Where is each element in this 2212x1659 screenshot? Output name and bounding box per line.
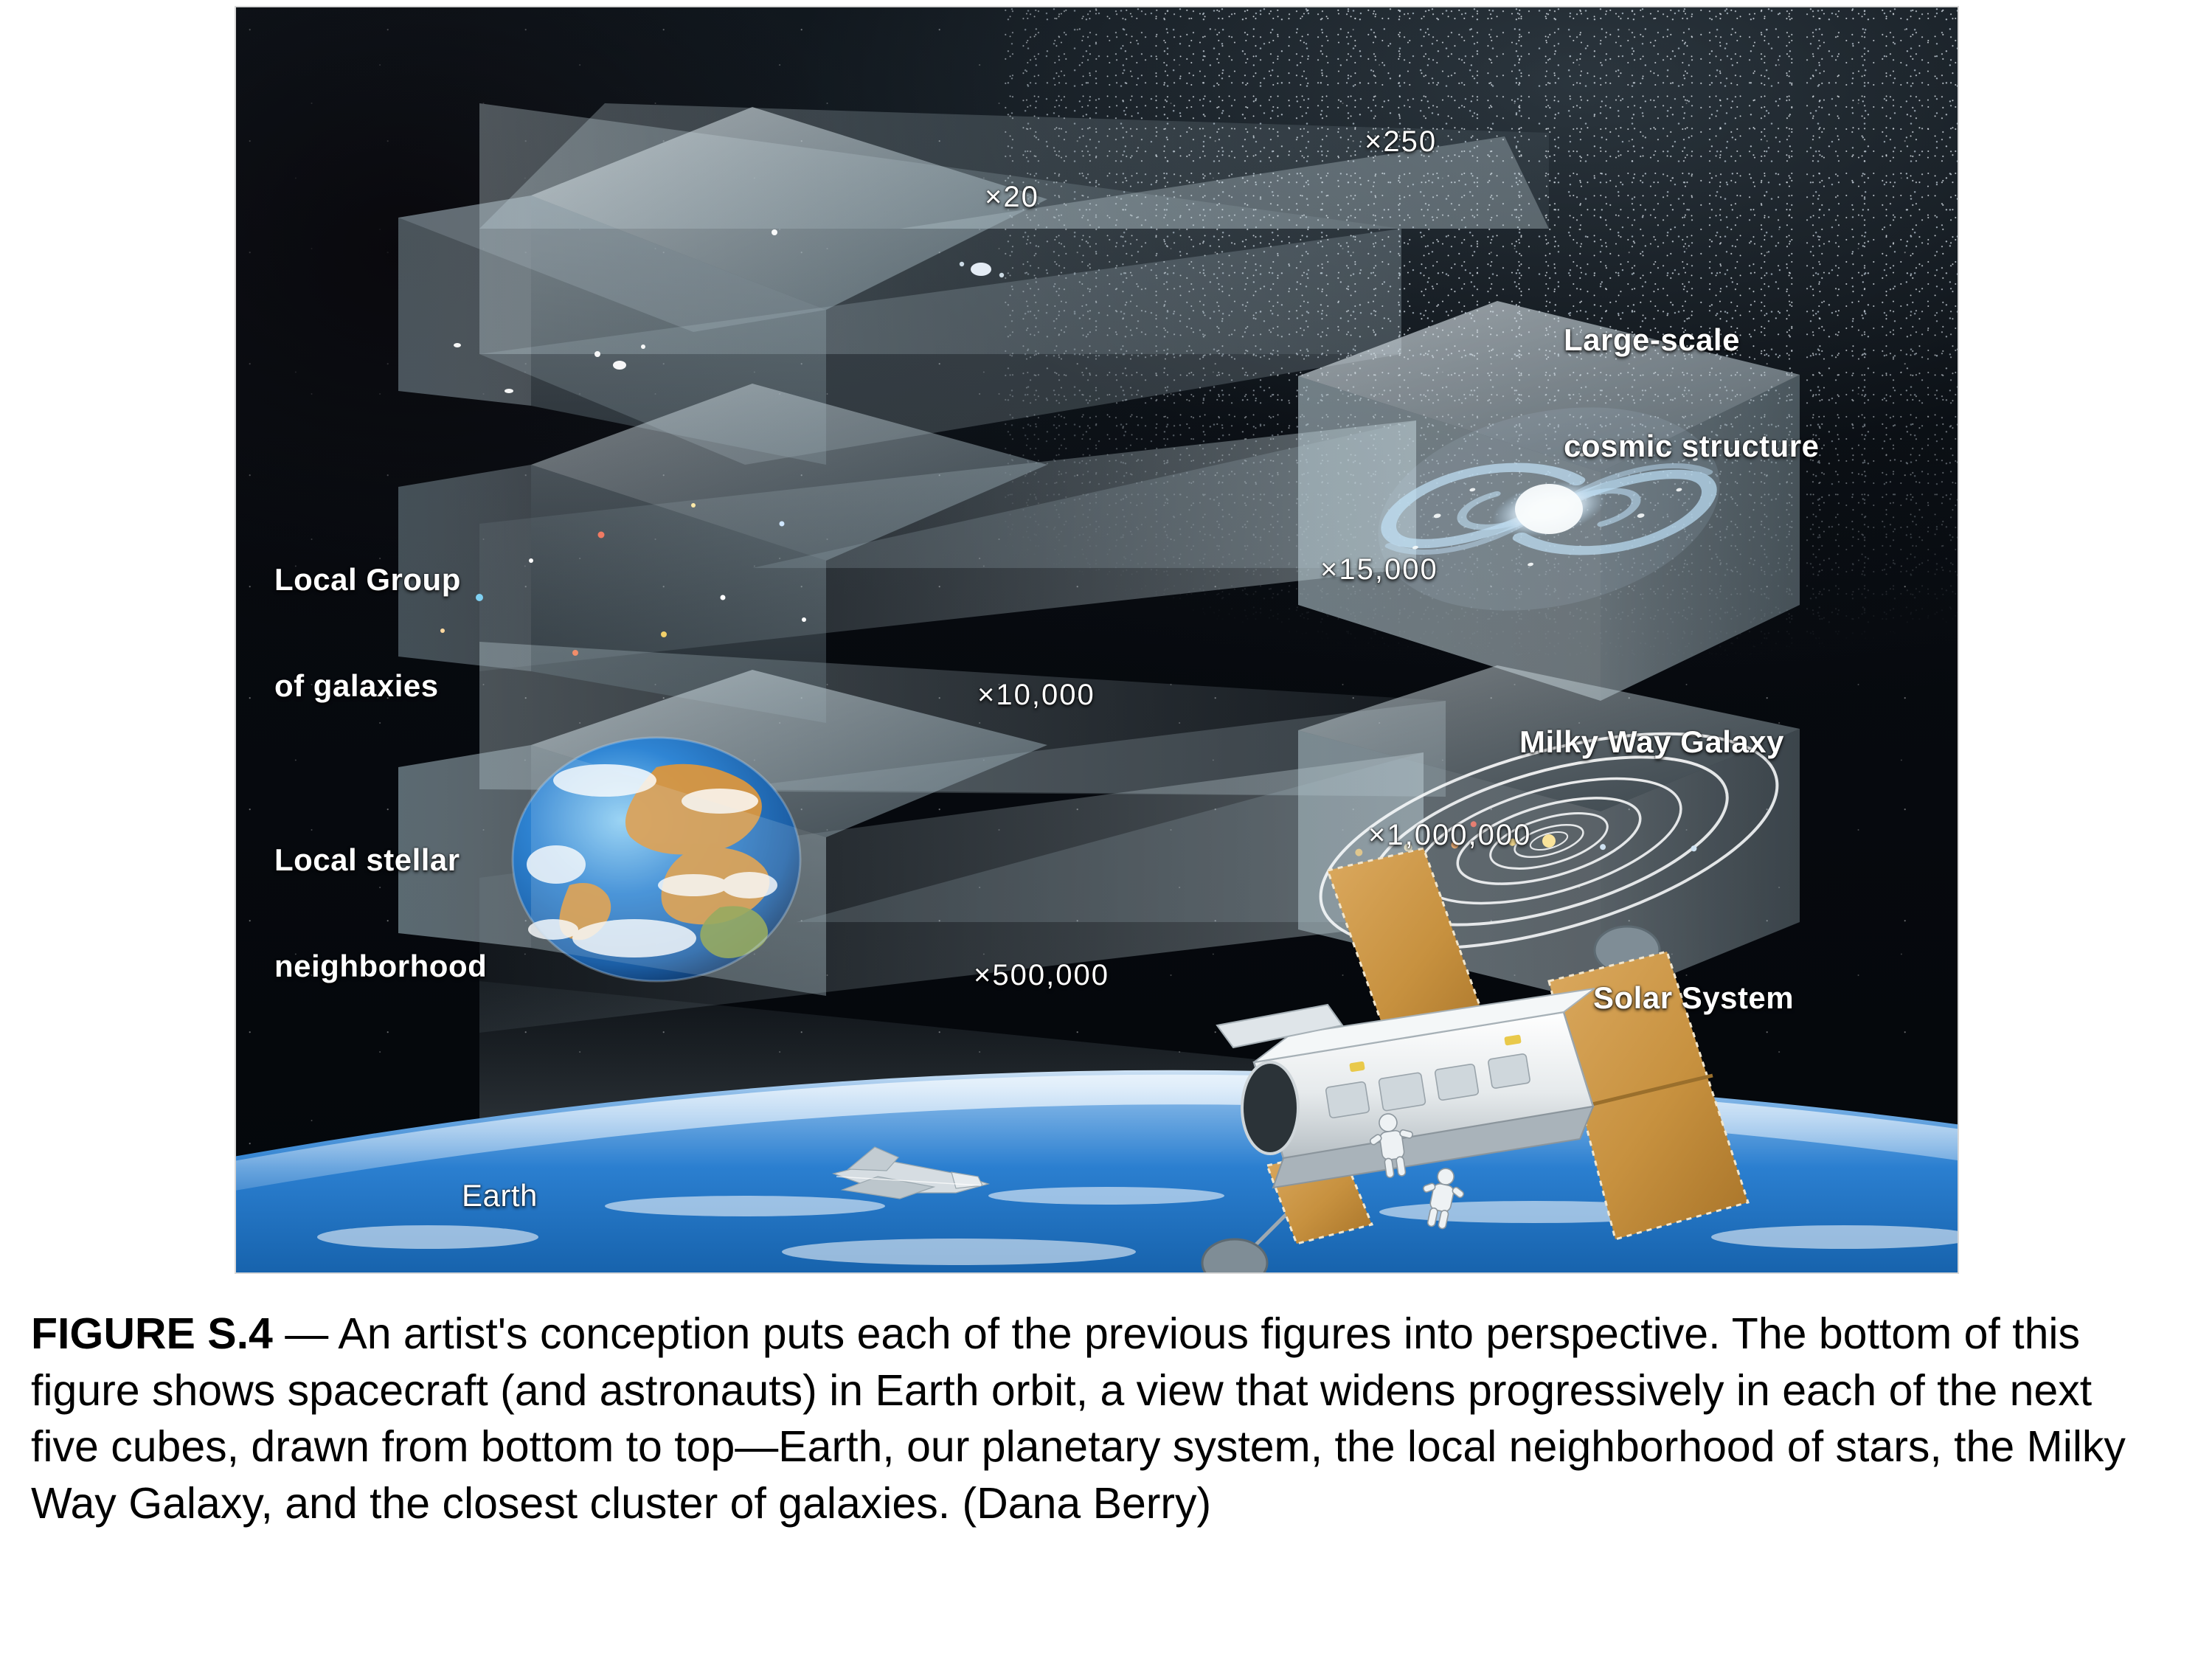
label-solar-system: Solar System xyxy=(1593,909,1794,1087)
label-line-2: of galaxies xyxy=(274,668,461,704)
label-large-scale-cosmic-structure: Large-scale cosmic structure xyxy=(1564,251,1819,536)
label-local-stellar-neighborhood: Local stellar neighborhood xyxy=(274,771,487,1056)
label-line-1: Earth xyxy=(462,1178,538,1213)
label-x250: ×250 xyxy=(1365,125,1437,159)
label-x20: ×20 xyxy=(985,181,1039,214)
label-x500000: ×500,000 xyxy=(974,959,1109,992)
caption-figure-number: FIGURE S.4 xyxy=(31,1309,273,1358)
caption-body: An artist's conception puts each of the … xyxy=(31,1309,2126,1528)
label-local-group-of-galaxies: Local Group of galaxies xyxy=(274,491,461,775)
label-earth: Earth xyxy=(462,1106,538,1272)
label-x1000000: ×1,000,000 xyxy=(1368,819,1531,852)
label-line-1: Local Group xyxy=(274,562,461,598)
label-line-1: Large-scale xyxy=(1564,322,1819,358)
label-x15000: ×15,000 xyxy=(1320,553,1438,586)
label-line-2: cosmic structure xyxy=(1564,429,1819,464)
label-line-1: Solar System xyxy=(1593,980,1794,1016)
label-x10000: ×10,000 xyxy=(977,679,1095,712)
artwork-panel: ×250 ×20 ×15,000 ×10,000 ×1,000,000 ×500… xyxy=(236,7,1958,1272)
label-line-1: Local stellar xyxy=(274,842,487,878)
space-shuttle xyxy=(804,1125,1025,1236)
label-line-1: Milky Way Galaxy xyxy=(1519,724,1784,760)
figure-container: ×250 ×20 ×15,000 ×10,000 ×1,000,000 ×500… xyxy=(0,0,2212,1659)
caption-dash: — xyxy=(273,1309,339,1358)
astronauts xyxy=(1350,1106,1512,1254)
figure-caption: FIGURE S.4 — An artist's conception puts… xyxy=(31,1306,2170,1532)
label-milky-way-galaxy: Milky Way Galaxy xyxy=(1519,653,1784,831)
label-line-2: neighborhood xyxy=(274,949,487,984)
